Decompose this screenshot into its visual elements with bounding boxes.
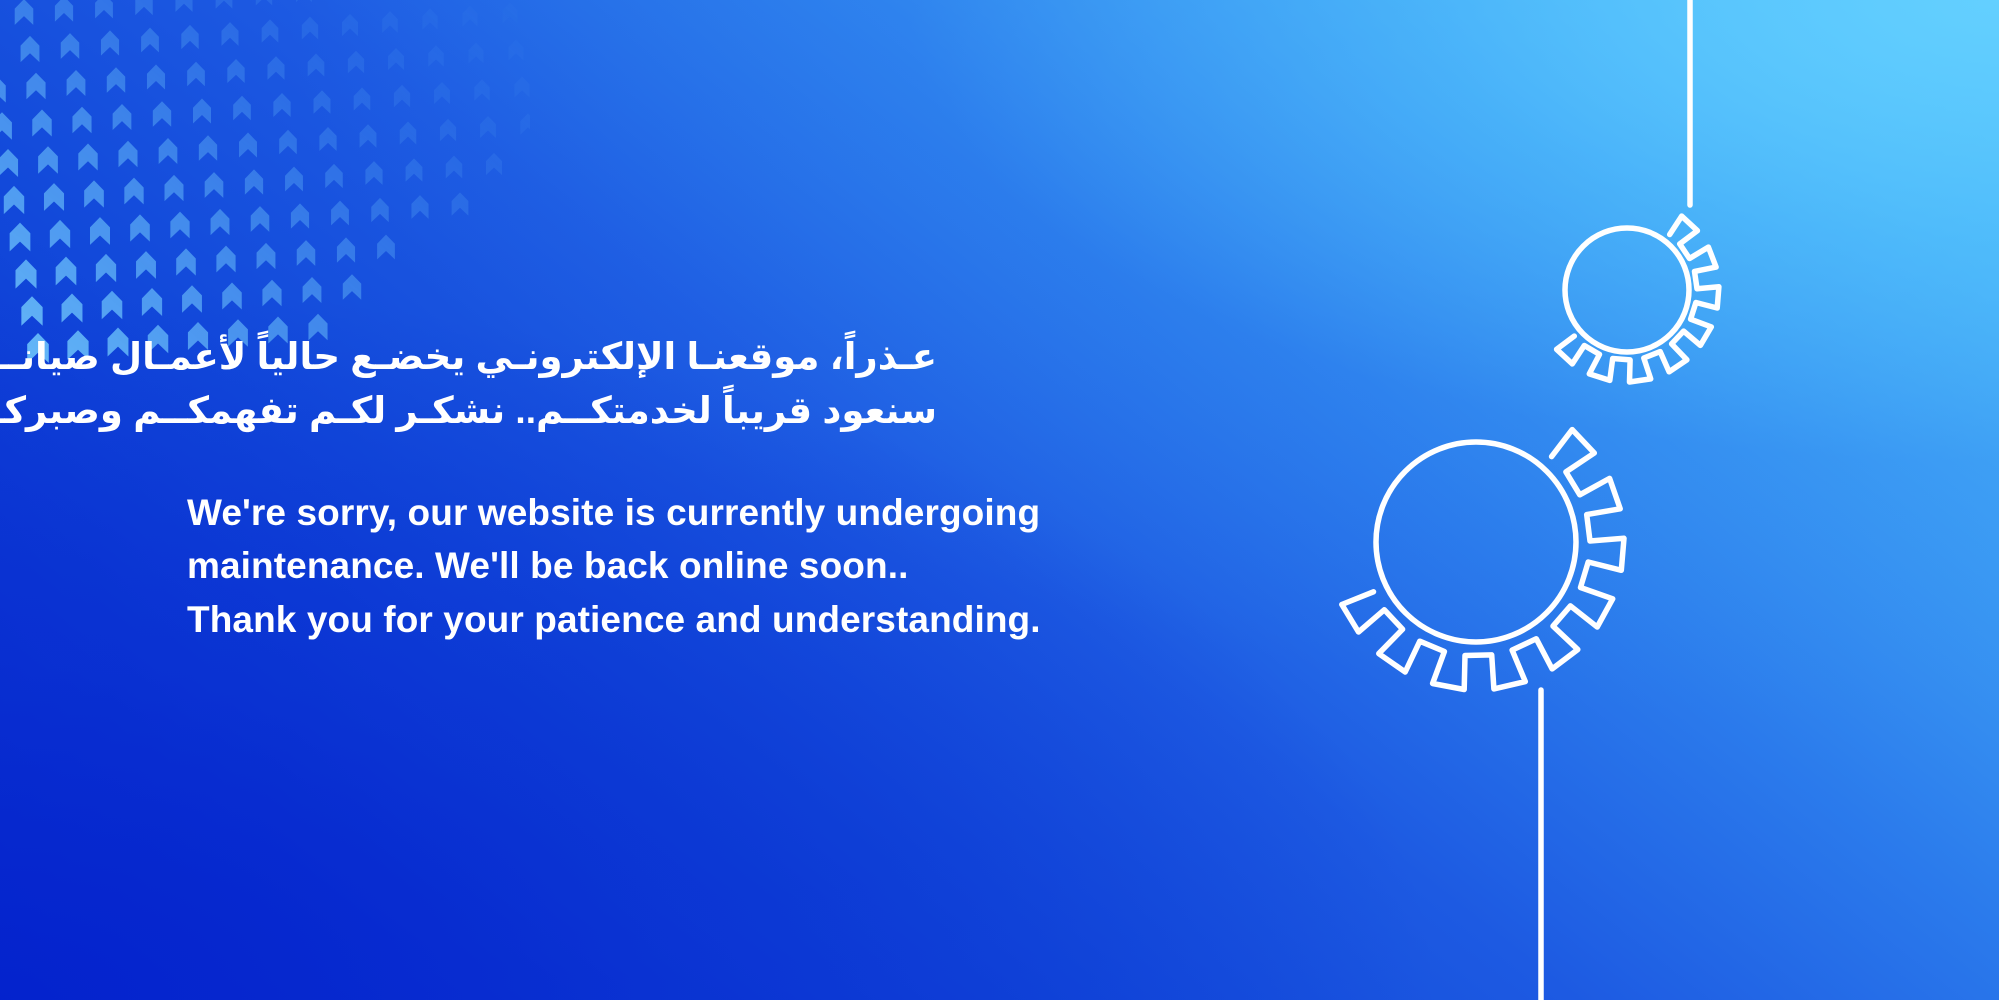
arabic-line-1: عـذراً، موقعنـا الإلكترونـي يخضـع حالياً…	[187, 330, 937, 384]
maintenance-message-block: عـذراً، موقعنـا الإلكترونـي يخضـع حالياً…	[187, 330, 1187, 646]
arabic-message: عـذراً، موقعنـا الإلكترونـي يخضـع حالياً…	[187, 330, 937, 438]
english-line-1: We're sorry, our website is currently un…	[187, 486, 1187, 539]
english-line-3: Thank you for your patience and understa…	[187, 593, 1187, 646]
arabic-line-2: سنعود قريباً لخدمتكــم.. نشكـر لكـم تفهم…	[187, 384, 937, 438]
english-message: We're sorry, our website is currently un…	[187, 486, 1187, 646]
english-line-2: maintenance. We'll be back online soon..	[187, 539, 1187, 592]
maintenance-page: عـذراً، موقعنـا الإلكترونـي يخضـع حالياً…	[0, 0, 1999, 1000]
